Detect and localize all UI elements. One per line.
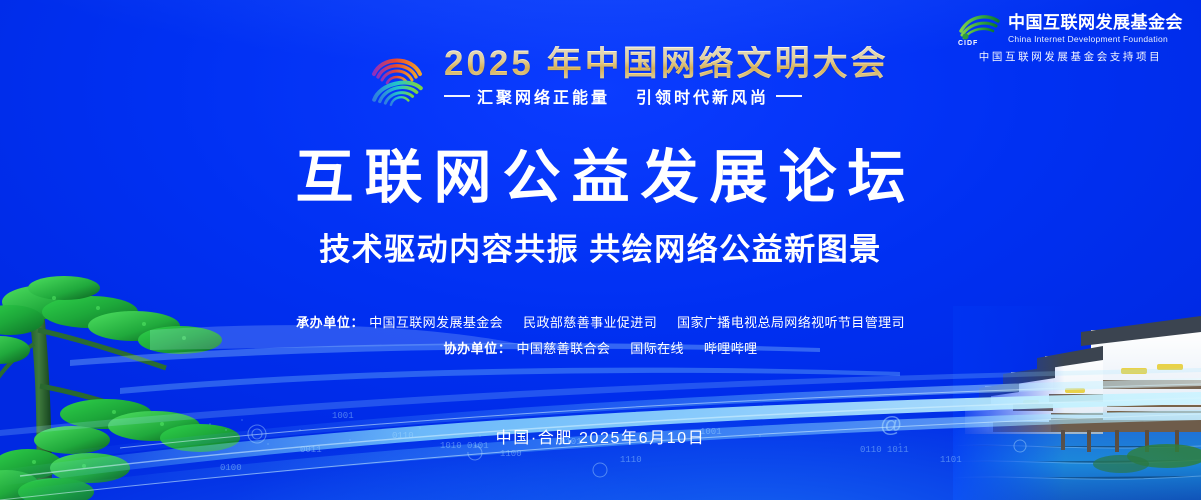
host-label: 承办单位： xyxy=(296,312,364,331)
sponsor-support-line: 中国互联网发展基金会支持项目 xyxy=(979,49,1162,64)
cohost-row: 协办单位： 中国慈善联合会 国际在线 哔哩哔哩 xyxy=(443,338,757,357)
pavilion-arcs-emblem-icon xyxy=(364,44,430,110)
cohost-label: 协办单位： xyxy=(443,338,511,357)
conference-backdrop-poster: 1001 0110 1010 0101 1100 0011 0101 1001 … xyxy=(0,0,1201,500)
cohost-item: 哔哩哔哩 xyxy=(704,338,758,357)
host-item: 民政部慈善事业促进司 xyxy=(523,312,657,331)
tagline-dash-right xyxy=(776,95,802,97)
host-item: 中国互联网发展基金会 xyxy=(369,312,503,331)
conference-name: 2025 年中国网络文明大会 xyxy=(444,46,889,83)
tagline-left-text: 汇聚网络正能量 xyxy=(477,84,610,108)
svg-text:CIDF: CIDF xyxy=(958,40,978,46)
sponsor-name-cn: 中国互联网发展基金会 xyxy=(1008,14,1183,32)
cohost-items: 中国慈善联合会 国际在线 哔哩哔哩 xyxy=(516,338,757,357)
host-item: 国家广播电视总局网络视听节目管理司 xyxy=(677,312,905,331)
huangshan-pine-tree-image xyxy=(0,268,262,500)
forum-title: 互联网公益发展论坛 xyxy=(0,148,1201,209)
tagline-dash-left xyxy=(444,95,470,97)
sponsor-logo-row: CIDF 中国互联网发展基金会 China Internet Developme… xyxy=(958,12,1183,46)
tagline-right-text: 引领时代新风尚 xyxy=(636,84,769,108)
conference-lockup: 2025 年中国网络文明大会 汇聚网络正能量 引领时代新风尚 xyxy=(364,44,889,110)
cohost-item: 国际在线 xyxy=(630,338,684,357)
host-row: 承办单位： 中国互联网发展基金会 民政部慈善事业促进司 国家广播电视总局网络视听… xyxy=(296,312,905,331)
forum-subtitle: 技术驱动内容共振 共绘网络公益新图景 xyxy=(0,233,1201,267)
sponsor-logo-block: CIDF 中国互联网发展基金会 China Internet Developme… xyxy=(958,12,1183,64)
sponsor-name-en: China Internet Development Foundation xyxy=(1008,35,1183,44)
host-items: 中国互联网发展基金会 民政部慈善事业促进司 国家广播电视总局网络视听节目管理司 xyxy=(369,312,905,331)
organizer-block: 承办单位： 中国互联网发展基金会 民政部慈善事业促进司 国家广播电视总局网络视听… xyxy=(0,312,1201,357)
place-and-date: 中国·合肥 2025年6月10日 xyxy=(0,424,1201,448)
conference-tagline: 汇聚网络正能量 引领时代新风尚 xyxy=(444,84,889,108)
cohost-item: 中国慈善联合会 xyxy=(516,338,610,357)
cidf-green-swoosh-icon: CIDF xyxy=(958,12,1000,46)
